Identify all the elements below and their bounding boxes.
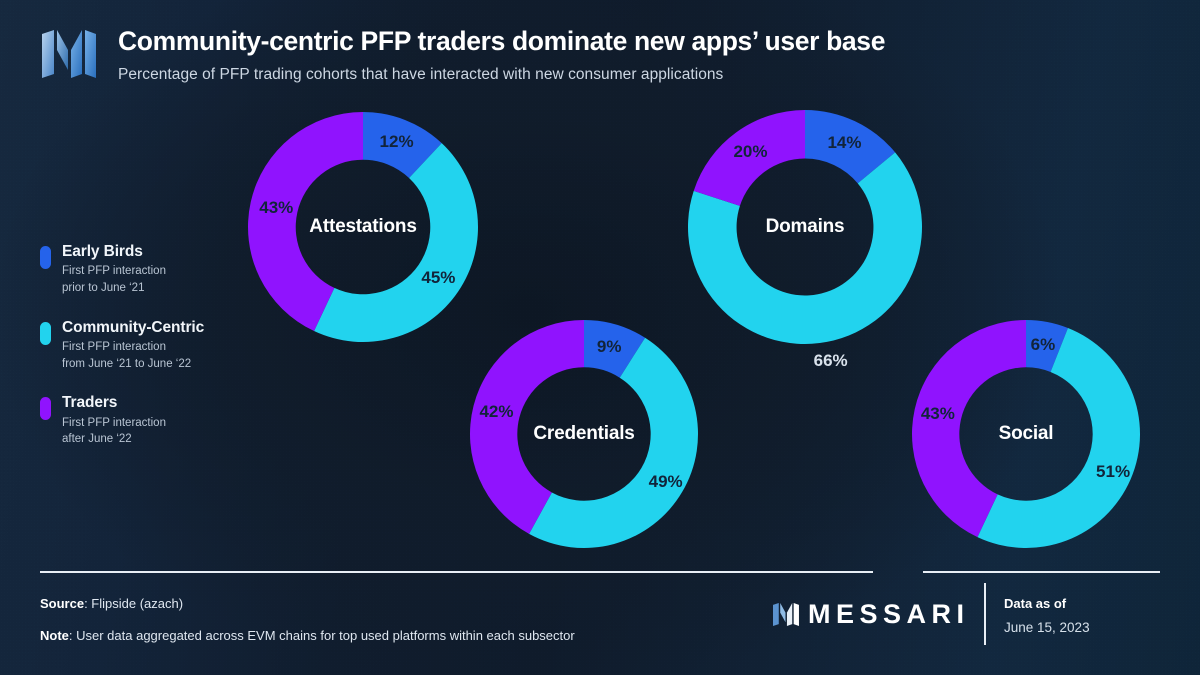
legend-swatch-early-birds bbox=[40, 246, 51, 269]
messari-wordmark: MESSARI bbox=[808, 601, 970, 628]
messari-brand: MESSARI bbox=[772, 601, 970, 628]
donut-chart-social: Social6%51%43% bbox=[912, 320, 1140, 548]
donut-ring bbox=[912, 320, 1140, 548]
donut-chart-domains: Domains14%66%20% bbox=[688, 110, 922, 344]
data-as-of-value: June 15, 2023 bbox=[1004, 620, 1090, 635]
data-as-of-label: Data as of bbox=[1004, 596, 1090, 611]
footer-divider bbox=[40, 571, 873, 573]
legend-label-early-birds: Early Birds bbox=[62, 243, 166, 261]
footer-source-value: : Flipside (azach) bbox=[84, 596, 183, 611]
legend-label-community-centric: Community-Centric bbox=[62, 319, 204, 337]
footer-note: Note: User data aggregated across EVM ch… bbox=[40, 628, 575, 643]
footer-vertical-divider bbox=[984, 583, 986, 645]
donut-chart-attestations: Attestations12%45%43% bbox=[248, 112, 478, 342]
legend-desc-community-centric: First PFP interaction from June ‘21 to J… bbox=[62, 339, 204, 372]
legend-swatch-traders bbox=[40, 397, 51, 420]
donut-segment-community-centric[interactable] bbox=[314, 143, 478, 342]
legend: Early Birds First PFP interaction prior … bbox=[40, 243, 265, 470]
legend-label-traders: Traders bbox=[62, 394, 166, 412]
data-as-of: Data as of June 15, 2023 bbox=[1004, 596, 1090, 635]
footer-divider-right bbox=[923, 571, 1160, 573]
legend-item-community-centric: Community-Centric First PFP interaction … bbox=[40, 319, 265, 373]
legend-desc-traders: First PFP interaction after June ‘22 bbox=[62, 415, 166, 448]
donut-ring bbox=[248, 112, 478, 342]
header: Community-centric PFP traders dominate n… bbox=[40, 26, 885, 84]
legend-swatch-community-centric bbox=[40, 322, 51, 345]
donut-ring bbox=[688, 110, 922, 344]
messari-m-logo-icon bbox=[40, 28, 96, 80]
donut-chart-credentials: Credentials9%49%42% bbox=[470, 320, 698, 548]
footer-note-label: Note bbox=[40, 628, 69, 643]
legend-item-traders: Traders First PFP interaction after June… bbox=[40, 394, 265, 448]
footer-source-label: Source bbox=[40, 596, 84, 611]
footer-note-value: : User data aggregated across EVM chains… bbox=[69, 628, 575, 643]
donut-segment-traders[interactable] bbox=[694, 110, 805, 206]
messari-m-logo-icon-footer bbox=[772, 602, 799, 627]
footer-source: Source: Flipside (azach) bbox=[40, 596, 183, 611]
donut-ring bbox=[470, 320, 698, 548]
donut-value-label: 66% bbox=[814, 351, 848, 371]
legend-desc-early-birds: First PFP interaction prior to June ‘21 bbox=[62, 263, 166, 296]
page-title: Community-centric PFP traders dominate n… bbox=[118, 27, 885, 57]
legend-item-early-birds: Early Birds First PFP interaction prior … bbox=[40, 243, 265, 297]
page-subtitle: Percentage of PFP trading cohorts that h… bbox=[118, 66, 885, 84]
